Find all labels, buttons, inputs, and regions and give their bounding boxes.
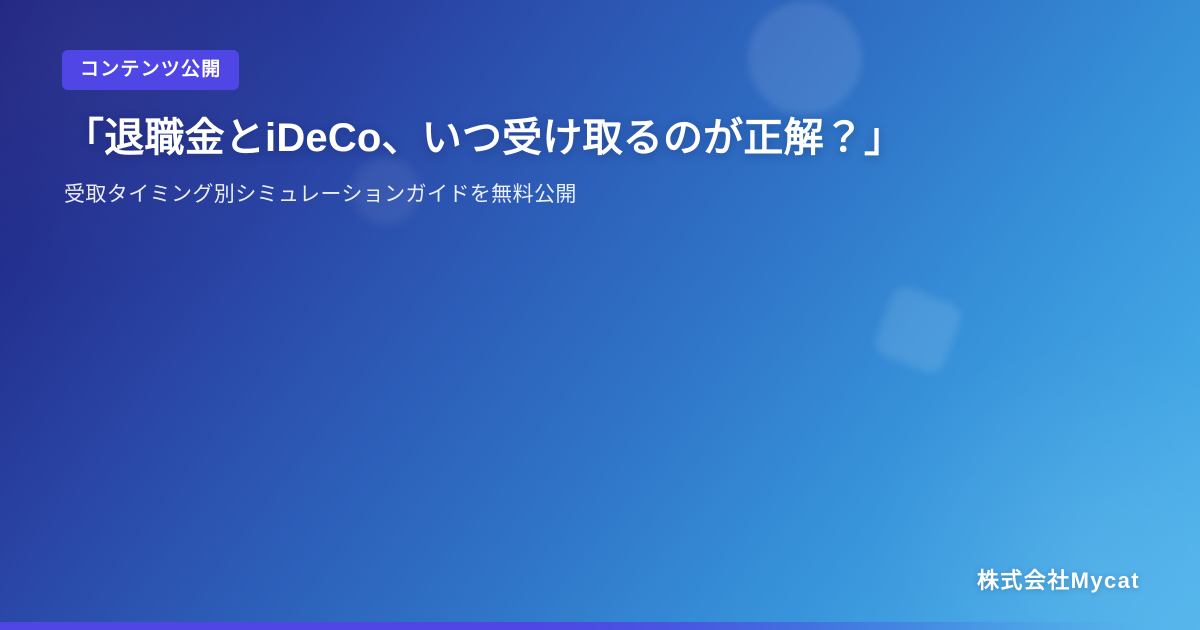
rotated-square-decoration	[871, 283, 964, 376]
status-badge: コンテンツ公開	[62, 50, 239, 90]
og-banner: コンテンツ公開 「退職金とiDeCo、いつ受け取るのが正解？」 受取タイミング別…	[0, 0, 1200, 630]
page-subtitle: 受取タイミング別シミュレーションガイドを無料公開	[64, 179, 1140, 211]
banner-content: コンテンツ公開 「退職金とiDeCo、いつ受け取るのが正解？」 受取タイミング別…	[0, 0, 1200, 211]
banner-footer: 株式会社Mycat	[977, 570, 1140, 592]
page-title: 「退職金とiDeCo、いつ受け取るのが正解？」	[64, 113, 1140, 163]
company-name: 株式会社Mycat	[977, 570, 1140, 592]
bottom-accent-bar	[0, 622, 1200, 630]
